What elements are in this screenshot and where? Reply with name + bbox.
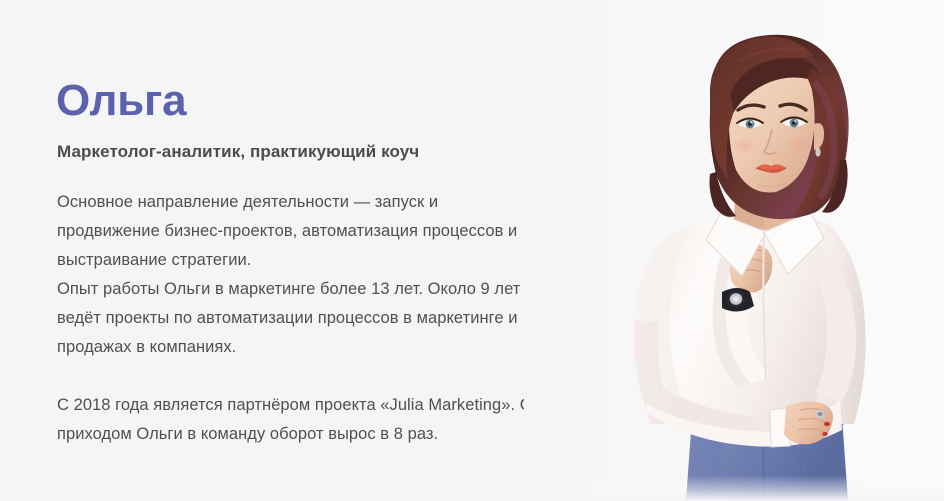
bio-paragraph-3: С 2018 года является партнёром проекта «…	[57, 391, 537, 449]
bio-paragraph-1: Основное направление деятельности — запу…	[57, 188, 537, 275]
bio-paragraph-group: Основное направление деятельности — запу…	[57, 188, 537, 449]
profile-role-subtitle: Маркетолог-аналитик, практикующий коуч	[57, 141, 419, 163]
portrait-photo	[524, 0, 944, 501]
bio-paragraph-2: Опыт работы Ольги в маркетинге более 13 …	[57, 275, 537, 362]
profile-hero-section: Ольга Маркетолог-аналитик, практикующий …	[0, 0, 944, 501]
portrait-bottom-fade	[524, 475, 944, 501]
bio-text-column: Ольга Маркетолог-аналитик, практикующий …	[56, 0, 556, 501]
wristwatch	[722, 288, 754, 312]
eyes	[737, 118, 807, 129]
page-title: Ольга	[56, 78, 186, 124]
